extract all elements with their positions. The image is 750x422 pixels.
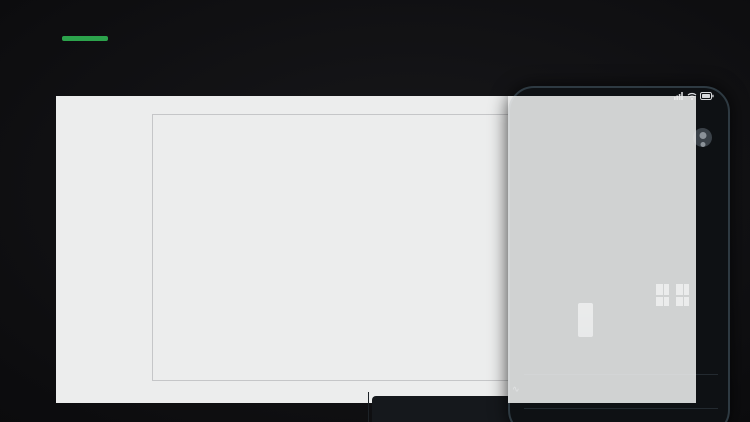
status-icons <box>674 92 714 100</box>
house-windows-icon <box>656 284 689 306</box>
accent-rule <box>62 36 108 41</box>
wave-icon: ∿ <box>512 384 520 395</box>
powerwall-unit-icon <box>578 303 593 337</box>
phone-side-button <box>728 228 730 264</box>
slide-root: ∿ <box>0 0 750 422</box>
signal-icon <box>674 92 684 100</box>
phone-divider-bottom <box>524 408 718 409</box>
phone-mockup: ∿ <box>508 86 730 422</box>
battery-icon <box>700 92 714 100</box>
phone-divider-top <box>524 374 718 375</box>
phone-notch <box>580 88 658 103</box>
wifi-icon <box>687 92 697 100</box>
card-edge-left <box>368 392 369 422</box>
avatar[interactable] <box>693 128 712 147</box>
